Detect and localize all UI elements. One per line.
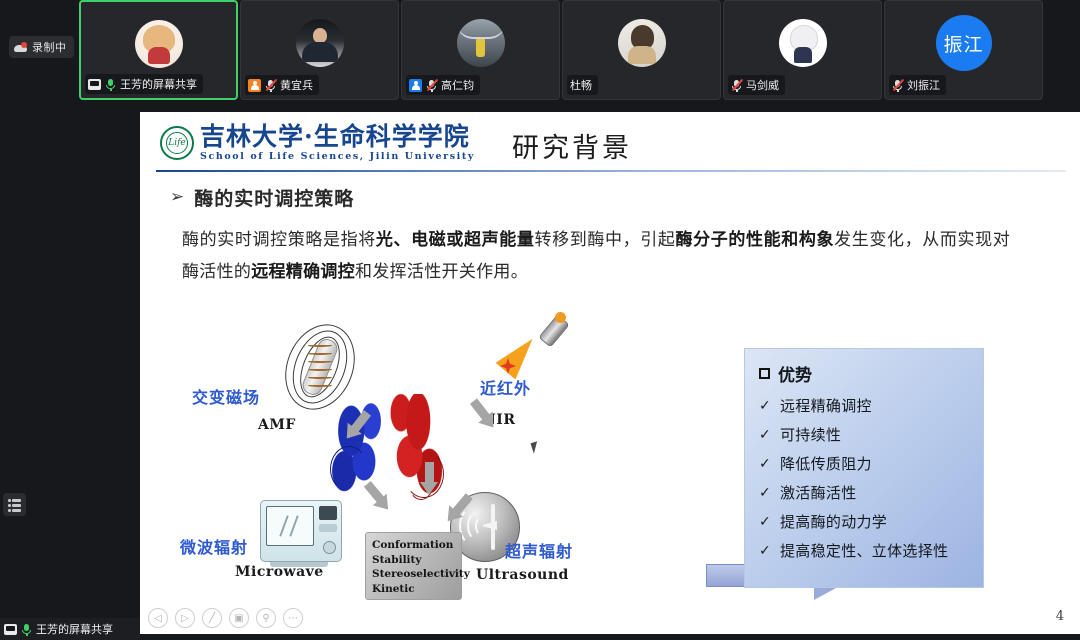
- participant-name: 黄宜兵: [280, 77, 313, 93]
- advantage-label: 提高稳定性、立体选择性: [780, 540, 948, 561]
- stimulus-label-cn-amf: 交变磁场: [192, 384, 260, 408]
- video-tile-1[interactable]: 黄宜兵: [240, 0, 399, 100]
- recording-badge: 录制中: [9, 36, 74, 58]
- avatar: [135, 20, 183, 68]
- body-paragraph: 酶的实时调控策略是指将光、电磁或超声能量转移到酶中，引起酶分子的性能和构象发生变…: [182, 224, 1010, 288]
- participant-name: 王芳的屏幕共享: [120, 76, 197, 92]
- next-slide-button[interactable]: ▷: [175, 608, 195, 628]
- screen-share-icon: [4, 624, 17, 635]
- advantage-item: ✓可持续性: [759, 424, 973, 445]
- slide-page-number: 4: [1056, 609, 1064, 624]
- video-tile-3[interactable]: 杜畅: [562, 0, 721, 100]
- save-button[interactable]: ▣: [229, 608, 249, 628]
- advantage-item: ✓远程精确调控: [759, 395, 973, 416]
- stimulus-label-cn-ultrasound: 超声辐射: [505, 538, 573, 562]
- section-heading-row: ➢ 酶的实时调控策略: [170, 184, 354, 211]
- university-logo: Life 吉林大学·生命科学学院 School of Life Sciences…: [160, 124, 475, 162]
- mic-muted-icon: [265, 79, 276, 92]
- advantage-item: ✓激活酶活性: [759, 482, 973, 503]
- recording-label: 录制中: [32, 39, 67, 55]
- participant-name-bar: 黄宜兵: [245, 75, 319, 95]
- property-line: Stability: [372, 553, 461, 568]
- section-heading: 酶的实时调控策略: [194, 184, 354, 211]
- pen-annotate-button[interactable]: ╱: [202, 608, 222, 628]
- avatar: 振江: [936, 15, 992, 71]
- advantages-title: 优势: [778, 361, 812, 386]
- jilin-university-seal-icon: Life: [160, 126, 194, 160]
- participant-name-bar: 马剑威: [728, 75, 785, 95]
- advantage-item: ✓提高酶的动力学: [759, 511, 973, 532]
- participants-list-toggle-icon[interactable]: [3, 493, 26, 516]
- header-divider: [156, 170, 1066, 172]
- avatar: [296, 19, 344, 67]
- check-icon: ✓: [759, 543, 771, 559]
- screen-share-meeting-window: 录制中 王芳的屏幕共享 黄宜兵 高仁钧: [0, 0, 1080, 640]
- property-line: Stereoselectivity: [372, 567, 461, 582]
- cloud-record-icon: [14, 42, 27, 53]
- person-badge-icon: [409, 79, 422, 92]
- video-tile-4[interactable]: 马剑威: [723, 0, 882, 100]
- advantage-item: ✓提高稳定性、立体选择性: [759, 540, 973, 561]
- check-icon: ✓: [759, 514, 771, 530]
- square-bullet-icon: [759, 368, 770, 379]
- property-line: Kinetic: [372, 582, 461, 597]
- property-line: Conformation: [372, 538, 461, 553]
- stimulus-label-en-microwave: Microwave: [235, 564, 324, 580]
- participant-name: 杜畅: [570, 77, 592, 93]
- participant-name: 高仁钧: [441, 77, 474, 93]
- zoom-button[interactable]: ⚲: [256, 608, 276, 628]
- check-icon: ✓: [759, 427, 771, 443]
- stimulus-label-en-amf: AMF: [258, 417, 296, 433]
- avatar: [618, 19, 666, 67]
- screen-share-icon: [88, 79, 101, 90]
- stimulus-label-cn-nir: 近红外: [480, 375, 531, 399]
- left-rail: [0, 105, 28, 640]
- advantages-panel: 优势 ✓远程精确调控✓可持续性✓降低传质阻力✓激活酶活性✓提高酶的动力学✓提高稳…: [744, 348, 984, 588]
- mic-on-icon: [21, 623, 32, 636]
- advantages-title-row: 优势: [759, 361, 973, 386]
- shared-slide: Life 吉林大学·生命科学学院 School of Life Sciences…: [140, 112, 1080, 634]
- video-tile-5[interactable]: 振江 刘振江: [884, 0, 1043, 100]
- logo-text-en: School of Life Sciences, Jilin Universit…: [200, 151, 475, 162]
- participant-name: 刘振江: [907, 77, 940, 93]
- seal-text: Life: [168, 138, 186, 148]
- participant-name-bar: 王芳的屏幕共享: [85, 74, 203, 94]
- slide-title: 研究背景: [512, 126, 632, 165]
- stimulus-label-en-ultrasound: Ultrasound: [476, 567, 569, 583]
- check-icon: ✓: [759, 398, 771, 414]
- slide-header: Life 吉林大学·生命科学学院 School of Life Sciences…: [140, 112, 1080, 174]
- logo-text-cn: 吉林大学·生命科学学院: [200, 124, 475, 150]
- microwave-oven-icon: [260, 500, 342, 562]
- advantage-label: 降低传质阻力: [780, 453, 872, 474]
- more-options-button[interactable]: ⋯: [283, 608, 303, 628]
- participant-name-bar: 刘振江: [889, 75, 946, 95]
- advantage-item: ✓降低传质阻力: [759, 453, 973, 474]
- taskbar-label: 王芳的屏幕共享: [36, 621, 113, 637]
- presentation-toolbar: ◁ ▷ ╱ ▣ ⚲ ⋯: [148, 608, 303, 628]
- mic-muted-icon: [426, 79, 437, 92]
- prev-slide-button[interactable]: ◁: [148, 608, 168, 628]
- mic-muted-icon: [892, 79, 903, 92]
- video-tile-2[interactable]: 高仁钧: [401, 0, 560, 100]
- advantage-label: 可持续性: [780, 424, 841, 445]
- participant-name-bar: 杜畅: [567, 75, 598, 95]
- avatar: [457, 19, 505, 67]
- participant-name-bar: 高仁钧: [406, 75, 480, 95]
- participant-name: 马剑威: [746, 77, 779, 93]
- property-box: ConformationStabilityStereoselectivityKi…: [365, 532, 462, 600]
- arrow-bullet-icon: ➢: [170, 189, 184, 206]
- advantage-label: 激活酶活性: [780, 482, 857, 503]
- participant-video-strip: 录制中 王芳的屏幕共享 黄宜兵 高仁钧: [0, 0, 1080, 105]
- stimuli-diagram: 交变磁场 AMF 近红外 NIR 微波辐射 Microwave 超声辐射 Ult…: [180, 312, 630, 602]
- video-tile-0[interactable]: 王芳的屏幕共享: [79, 0, 238, 100]
- mic-muted-icon: [731, 79, 742, 92]
- check-icon: ✓: [759, 456, 771, 472]
- advantage-label: 提高酶的动力学: [780, 511, 887, 532]
- taskbar-share-indicator[interactable]: 王芳的屏幕共享: [0, 618, 140, 640]
- person-badge-icon: [248, 79, 261, 92]
- mic-on-icon: [105, 78, 116, 91]
- avatar: [779, 19, 827, 67]
- advantages-list: ✓远程精确调控✓可持续性✓降低传质阻力✓激活酶活性✓提高酶的动力学✓提高稳定性、…: [759, 395, 973, 561]
- recording-zone: 录制中: [0, 0, 79, 105]
- advantage-label: 远程精确调控: [780, 395, 872, 416]
- check-icon: ✓: [759, 485, 771, 501]
- stimulus-label-cn-microwave: 微波辐射: [180, 534, 248, 558]
